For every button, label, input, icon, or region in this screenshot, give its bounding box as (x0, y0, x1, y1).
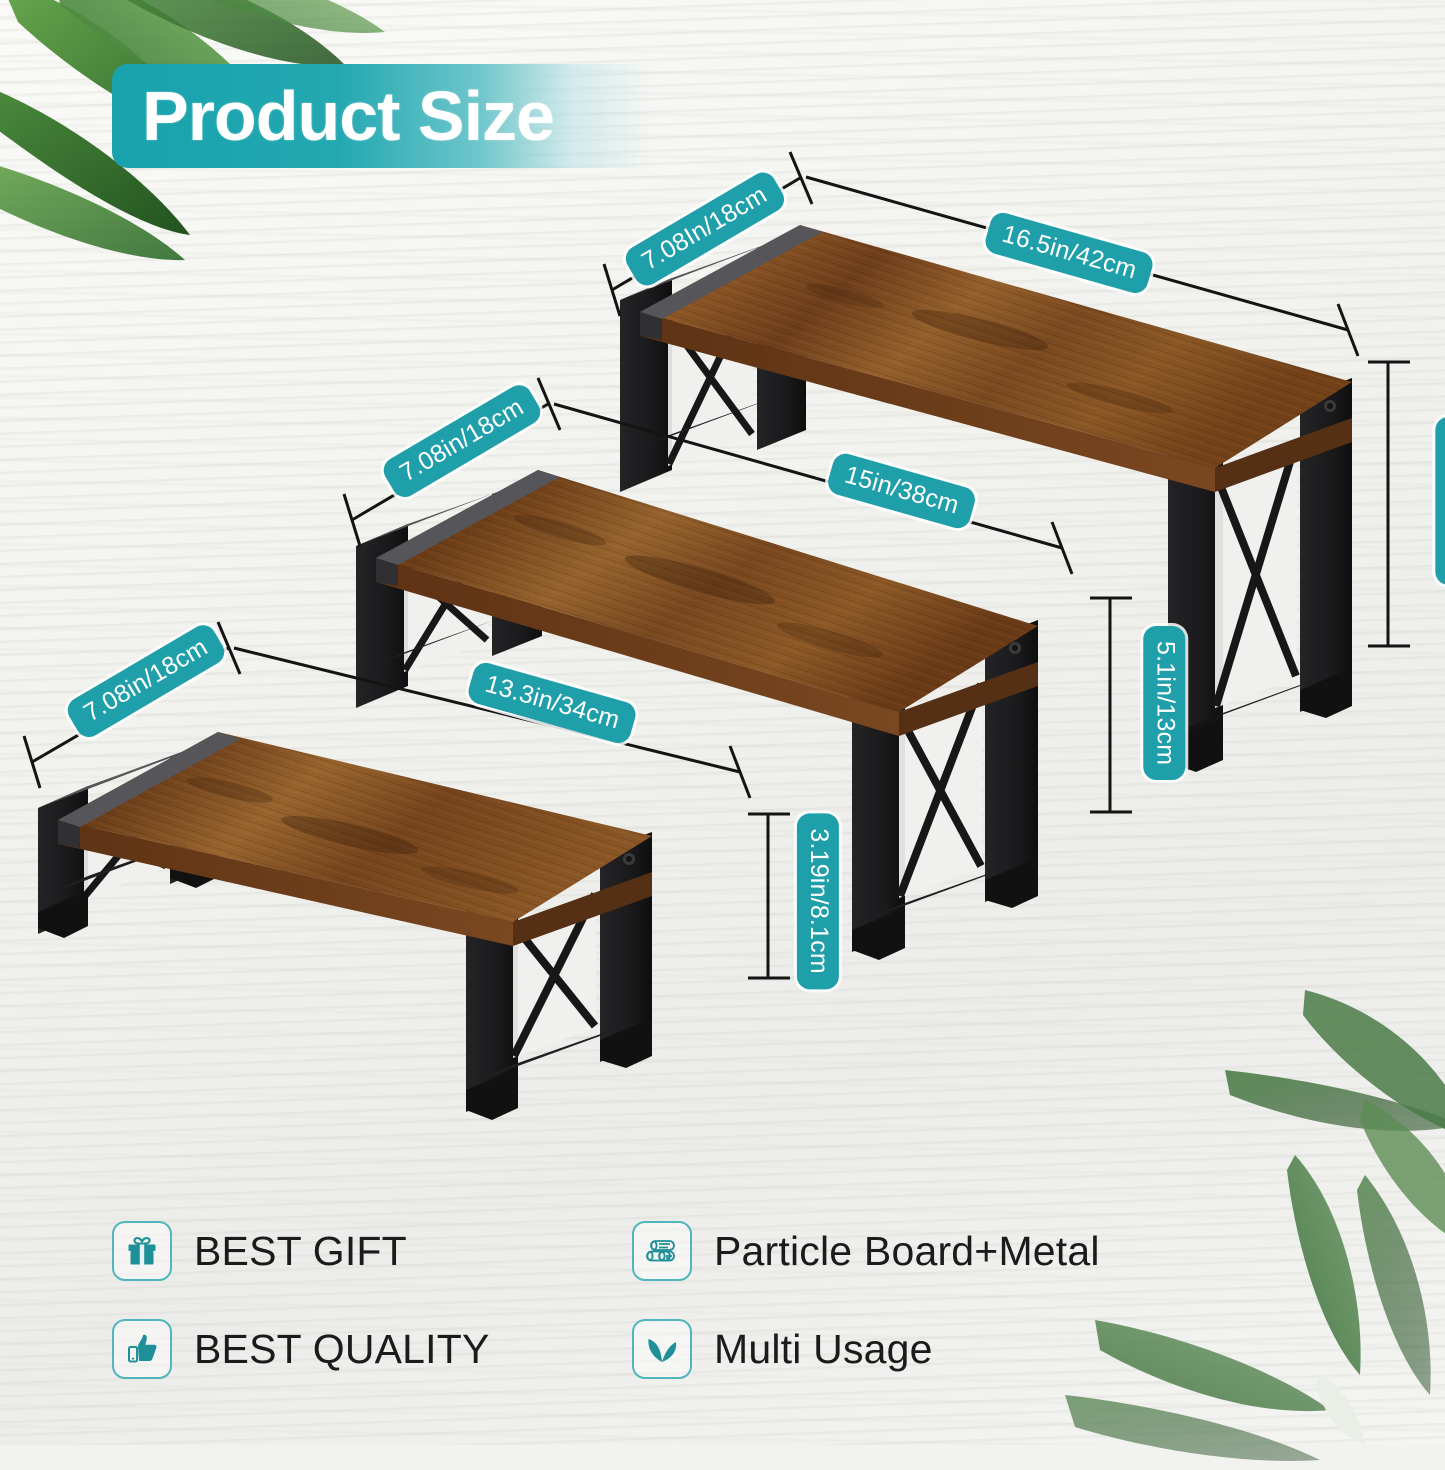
dimension-label-bot-height: 3.19in/8.1cm (797, 813, 839, 989)
gift-icon (112, 1221, 172, 1281)
log-stack-icon (632, 1221, 692, 1281)
dimension-label-mid-height: 5.1in/13cm (1143, 626, 1185, 780)
feature-label: Particle Board+Metal (714, 1228, 1100, 1275)
feature-label: Multi Usage (714, 1326, 933, 1373)
shelf-small (38, 732, 652, 1120)
feature-label: BEST GIFT (194, 1228, 407, 1275)
feature-item-best-quality: BEST QUALITY (112, 1303, 632, 1395)
feature-item-material: Particle Board+Metal (632, 1205, 1272, 1297)
leaves-icon (632, 1319, 692, 1379)
thumbs-up-icon (112, 1319, 172, 1379)
dimension-label-top-height: 7.08in/18cm (1435, 417, 1445, 585)
feature-item-multi-usage: Multi Usage (632, 1303, 1272, 1395)
shelf-small-top (58, 732, 652, 946)
shelf-large-top (640, 225, 1352, 492)
feature-label: BEST QUALITY (194, 1326, 490, 1373)
feature-list: BEST GIFT Particle Board+Metal (112, 1205, 1292, 1395)
feature-item-best-gift: BEST GIFT (112, 1205, 632, 1297)
